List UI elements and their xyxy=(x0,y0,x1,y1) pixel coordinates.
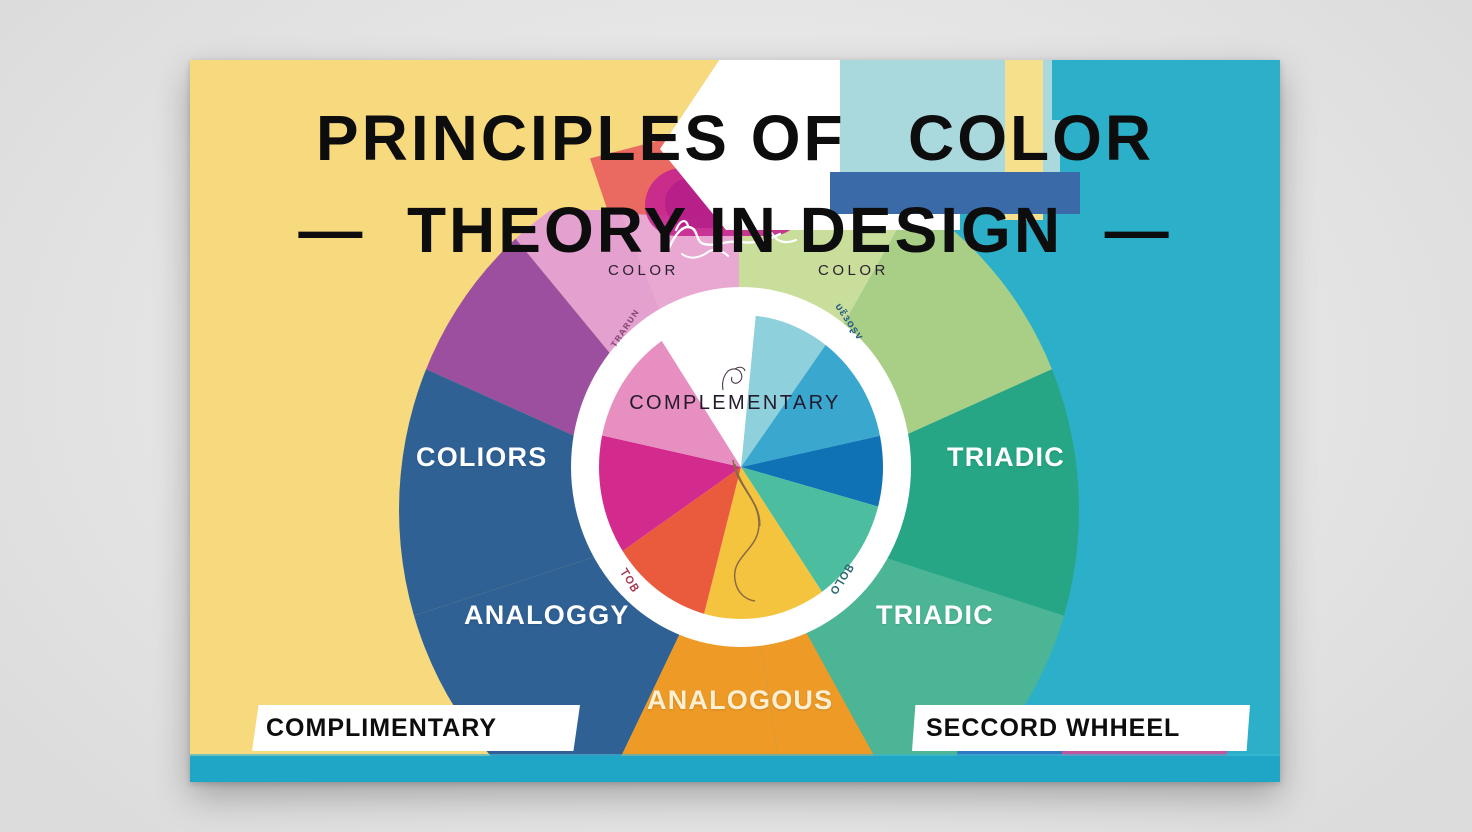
mini-label-color-right: COLOR xyxy=(818,262,889,279)
wedge-label-colors: COLIORS xyxy=(416,442,547,473)
poster-title-line-1: PRINCIPLES OF COLOR xyxy=(190,106,1280,170)
wedge-label-triadic-lower: TRIADIC xyxy=(876,600,994,631)
wedge-label-triadic-upper: TRIADIC xyxy=(947,442,1065,473)
wheel-center-label: COMPLEMENTARY xyxy=(190,392,1280,415)
callout-box-second-wheel: SECCORD WHHEEL xyxy=(912,705,1250,751)
wedge-label-analoggy: ANALOGGY xyxy=(464,600,630,631)
callout-box-complimentary: COMPLIMENTARY xyxy=(252,705,580,751)
wedge-label-analogous: ANALOGOUS xyxy=(647,685,833,716)
bottom-bar xyxy=(190,756,1280,782)
poster-title-line-2: — THEORY IN DESIGN — xyxy=(190,198,1280,262)
mini-label-color-left: COLOR xyxy=(608,262,679,279)
poster: PRINCIPLES OF COLOR — THEORY IN DESIGN —… xyxy=(190,60,1280,782)
